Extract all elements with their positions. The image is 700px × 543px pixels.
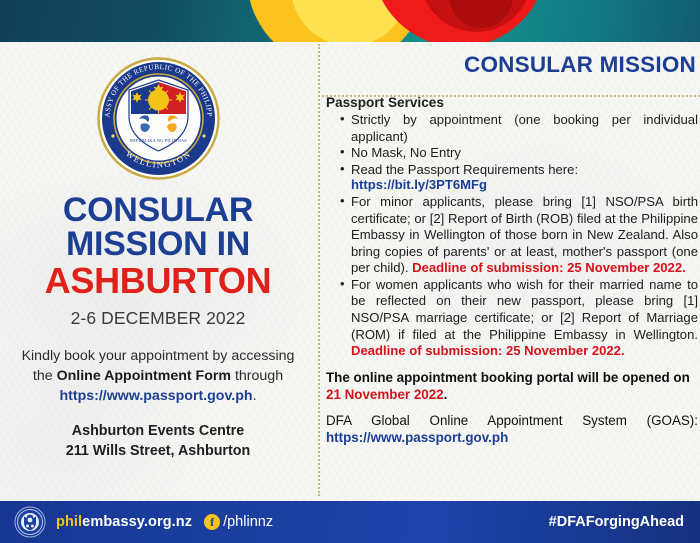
footer-facebook-group[interactable]: f /phlinnz xyxy=(204,514,273,530)
portal-open-date: 21 November 2022 xyxy=(326,387,444,402)
left-panel: EMBASSY OF THE REPUBLIC OF THE PHILIPPIN… xyxy=(0,44,316,496)
facebook-handle: /phlinnz xyxy=(223,514,273,530)
page-title-line1: CONSULAR MISSION IN xyxy=(63,193,253,261)
footer-seal-icon xyxy=(14,506,46,538)
passport-services-list-continued: For minor applicants, please bring [1] N… xyxy=(326,194,698,360)
title-consular: CONSULAR xyxy=(63,193,253,227)
section-heading-passport-services: Passport Services xyxy=(326,94,698,111)
passport-requirements-link[interactable]: https://bit.ly/3PT6MFg xyxy=(326,177,698,194)
vertical-divider xyxy=(318,44,320,496)
list-item: Read the Passport Requirements here: xyxy=(340,162,698,179)
bullet-text: No Mask, No Entry xyxy=(351,145,461,160)
online-appointment-form-label: Online Appointment Form xyxy=(57,368,231,384)
footer-website[interactable]: philembassy.org.nz xyxy=(56,514,192,530)
list-item: For minor applicants, please bring [1] N… xyxy=(340,194,698,277)
right-panel-title: CONSULAR MISSION xyxy=(326,52,698,78)
right-panel: CONSULAR MISSION Passport Services Stric… xyxy=(326,52,698,446)
goas-label: DFA Global Online Appointment System (GO… xyxy=(326,413,698,428)
bullet-text: Read the Passport Requirements here: xyxy=(351,162,578,177)
venue-address: 211 Wills Street, Ashburton xyxy=(66,442,250,461)
footer-left-group: philembassy.org.nz f /phlinnz xyxy=(56,514,273,530)
header-decoration-band xyxy=(0,0,700,42)
passport-services-list: Strictly by appointment (one booking per… xyxy=(326,112,698,178)
list-item: For women applicants who wish for their … xyxy=(340,277,698,360)
bullet-text: For women applicants who wish for their … xyxy=(351,277,698,342)
deadline-emphasis: Deadline of submission: 25 November 2022… xyxy=(412,260,686,275)
list-item: Strictly by appointment (one booking per… xyxy=(340,112,698,145)
event-dates: 2-6 DECEMBER 2022 xyxy=(71,308,246,329)
bullet-text: Strictly by appointment (one booking per… xyxy=(351,112,698,144)
title-mission-in: MISSION IN xyxy=(63,227,253,261)
passport-portal-link[interactable]: https://www.passport.gov.ph xyxy=(59,388,252,404)
passport-services-block: Passport Services Strictly by appointmen… xyxy=(326,94,698,446)
facebook-icon[interactable]: f xyxy=(204,514,220,530)
venue-name: Ashburton Events Centre xyxy=(66,422,250,441)
footer-hashtag: #DFAForgingAhead xyxy=(549,514,684,530)
booking-text-part3: . xyxy=(253,388,257,404)
svg-text:REPUBLIKA NG PILIPINAS: REPUBLIKA NG PILIPINAS xyxy=(130,138,187,143)
footer-bar: philembassy.org.nz f /phlinnz #DFAForgin… xyxy=(0,501,700,543)
footer-website-prefix: phil xyxy=(56,514,82,530)
embassy-seal-icon: EMBASSY OF THE REPUBLIC OF THE PHILIPPIN… xyxy=(96,56,221,181)
list-item: No Mask, No Entry xyxy=(340,145,698,162)
portal-opening-note: The online appointment booking portal wi… xyxy=(326,369,698,403)
goas-block: DFA Global Online Appointment System (GO… xyxy=(326,412,698,446)
note-text-part1: The online appointment booking portal wi… xyxy=(326,370,690,385)
deadline-emphasis: Deadline of submission: 25 November 2022… xyxy=(351,343,625,358)
goas-link[interactable]: https://www.passport.gov.ph xyxy=(326,430,508,445)
header-texture-overlay xyxy=(0,0,700,42)
venue-block: Ashburton Events Centre 211 Wills Street… xyxy=(66,422,250,461)
booking-instructions: Kindly book your appointment by accessin… xyxy=(12,346,304,406)
note-text-part2: . xyxy=(444,387,448,402)
footer-website-suffix: embassy.org.nz xyxy=(82,514,192,530)
title-ashburton: ASHBURTON xyxy=(45,263,272,299)
booking-text-part2: through xyxy=(231,368,283,384)
poster-root: EMBASSY OF THE REPUBLIC OF THE PHILIPPIN… xyxy=(0,0,700,543)
